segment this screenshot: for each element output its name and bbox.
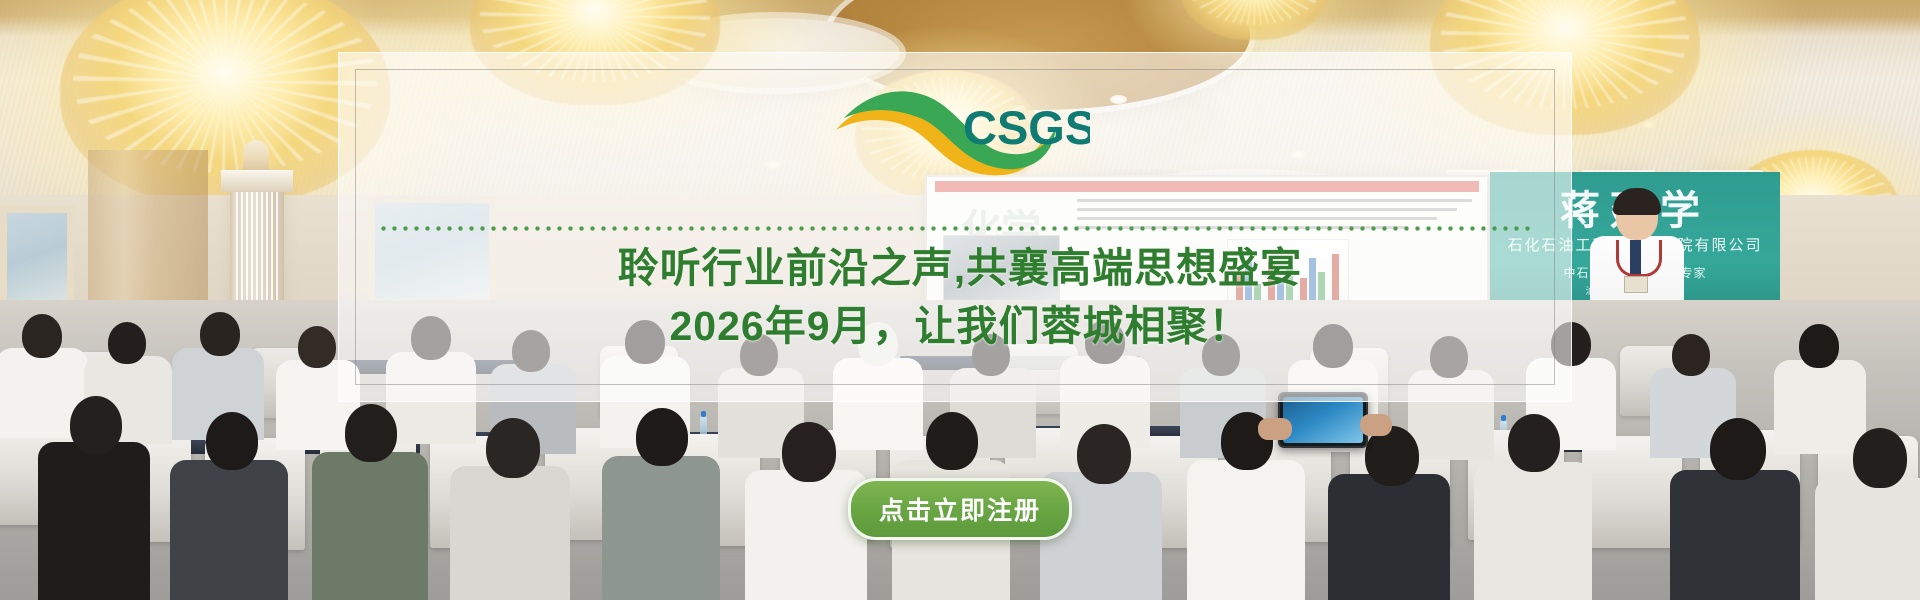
register-now-button[interactable]: 点击立即注册 xyxy=(848,478,1072,540)
headline-line-1: 聆听行业前沿之声,共襄高端思想盛宴 xyxy=(0,243,1920,293)
csgs-logo: CSGS xyxy=(830,78,1090,178)
chandelier xyxy=(1180,0,1330,40)
headline: 聆听行业前沿之声,共襄高端思想盛宴 2026年9月，让我们蓉城相聚！ xyxy=(0,243,1920,351)
dotted-divider xyxy=(378,226,1532,231)
cta-container: 点击立即注册 xyxy=(0,478,1920,540)
logo-wordmark: CSGS xyxy=(963,101,1090,154)
headline-line-2: 2026年9月，让我们蓉城相聚！ xyxy=(0,301,1920,351)
hand xyxy=(1360,414,1392,436)
hand xyxy=(1258,418,1292,440)
conference-banner: 化学 24 蒋廷学 xyxy=(0,0,1920,600)
